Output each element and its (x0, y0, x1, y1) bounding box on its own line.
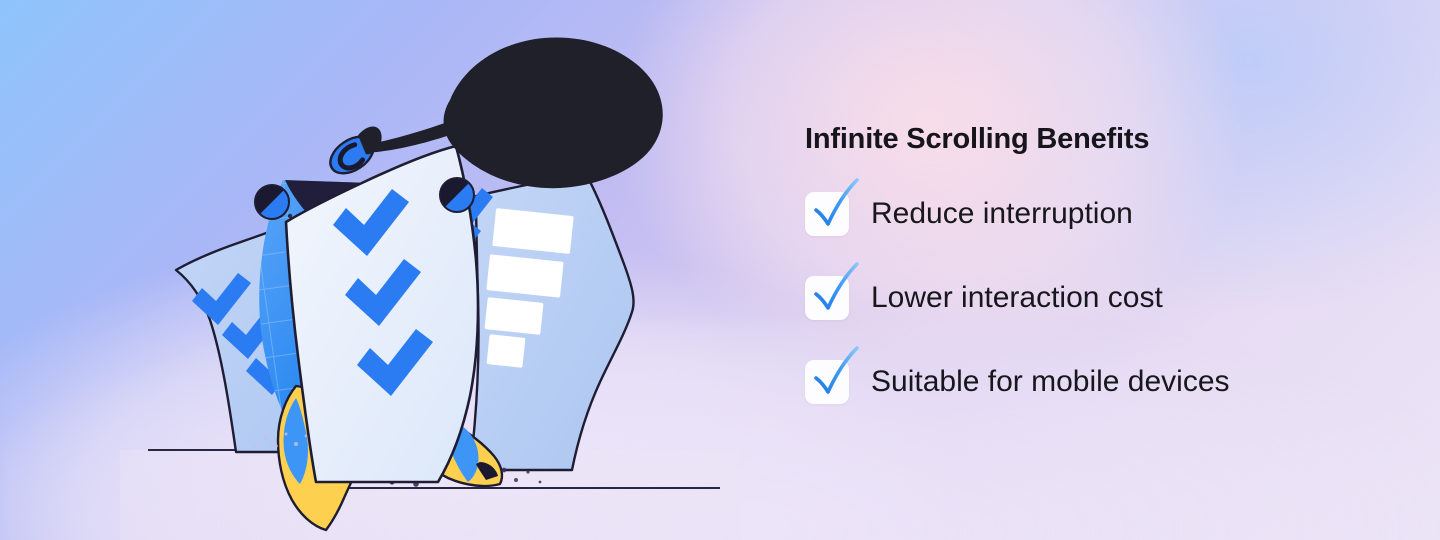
checkbox-reduce-interruption[interactable] (805, 192, 849, 236)
list-item: Lower interaction cost (805, 276, 1365, 320)
list-item: Reduce interruption (805, 192, 1365, 236)
page-title: Infinite Scrolling Benefits (805, 124, 1365, 156)
check-icon (807, 262, 865, 322)
paper-pin-right (440, 178, 474, 212)
checkbox-lower-interaction-cost[interactable] (805, 276, 849, 320)
list-item-label: Suitable for mobile devices (871, 367, 1230, 397)
checkbox-suitable-for-mobile-devices[interactable] (805, 360, 849, 404)
person-with-checklist-papers-illustration (120, 0, 740, 540)
list-item-label: Lower interaction cost (871, 283, 1163, 313)
check-icon (807, 178, 865, 238)
list-item: Suitable for mobile devices (805, 360, 1365, 404)
check-icon (807, 346, 865, 406)
benefits-list: Reduce interruption (805, 192, 1365, 404)
benefits-panel: Infinite Scrolling Benefits (805, 124, 1365, 404)
list-item-label: Reduce interruption (871, 199, 1133, 229)
illustration-banner: Infinite Scrolling Benefits (0, 0, 1440, 540)
paper-pin-left (255, 185, 289, 219)
